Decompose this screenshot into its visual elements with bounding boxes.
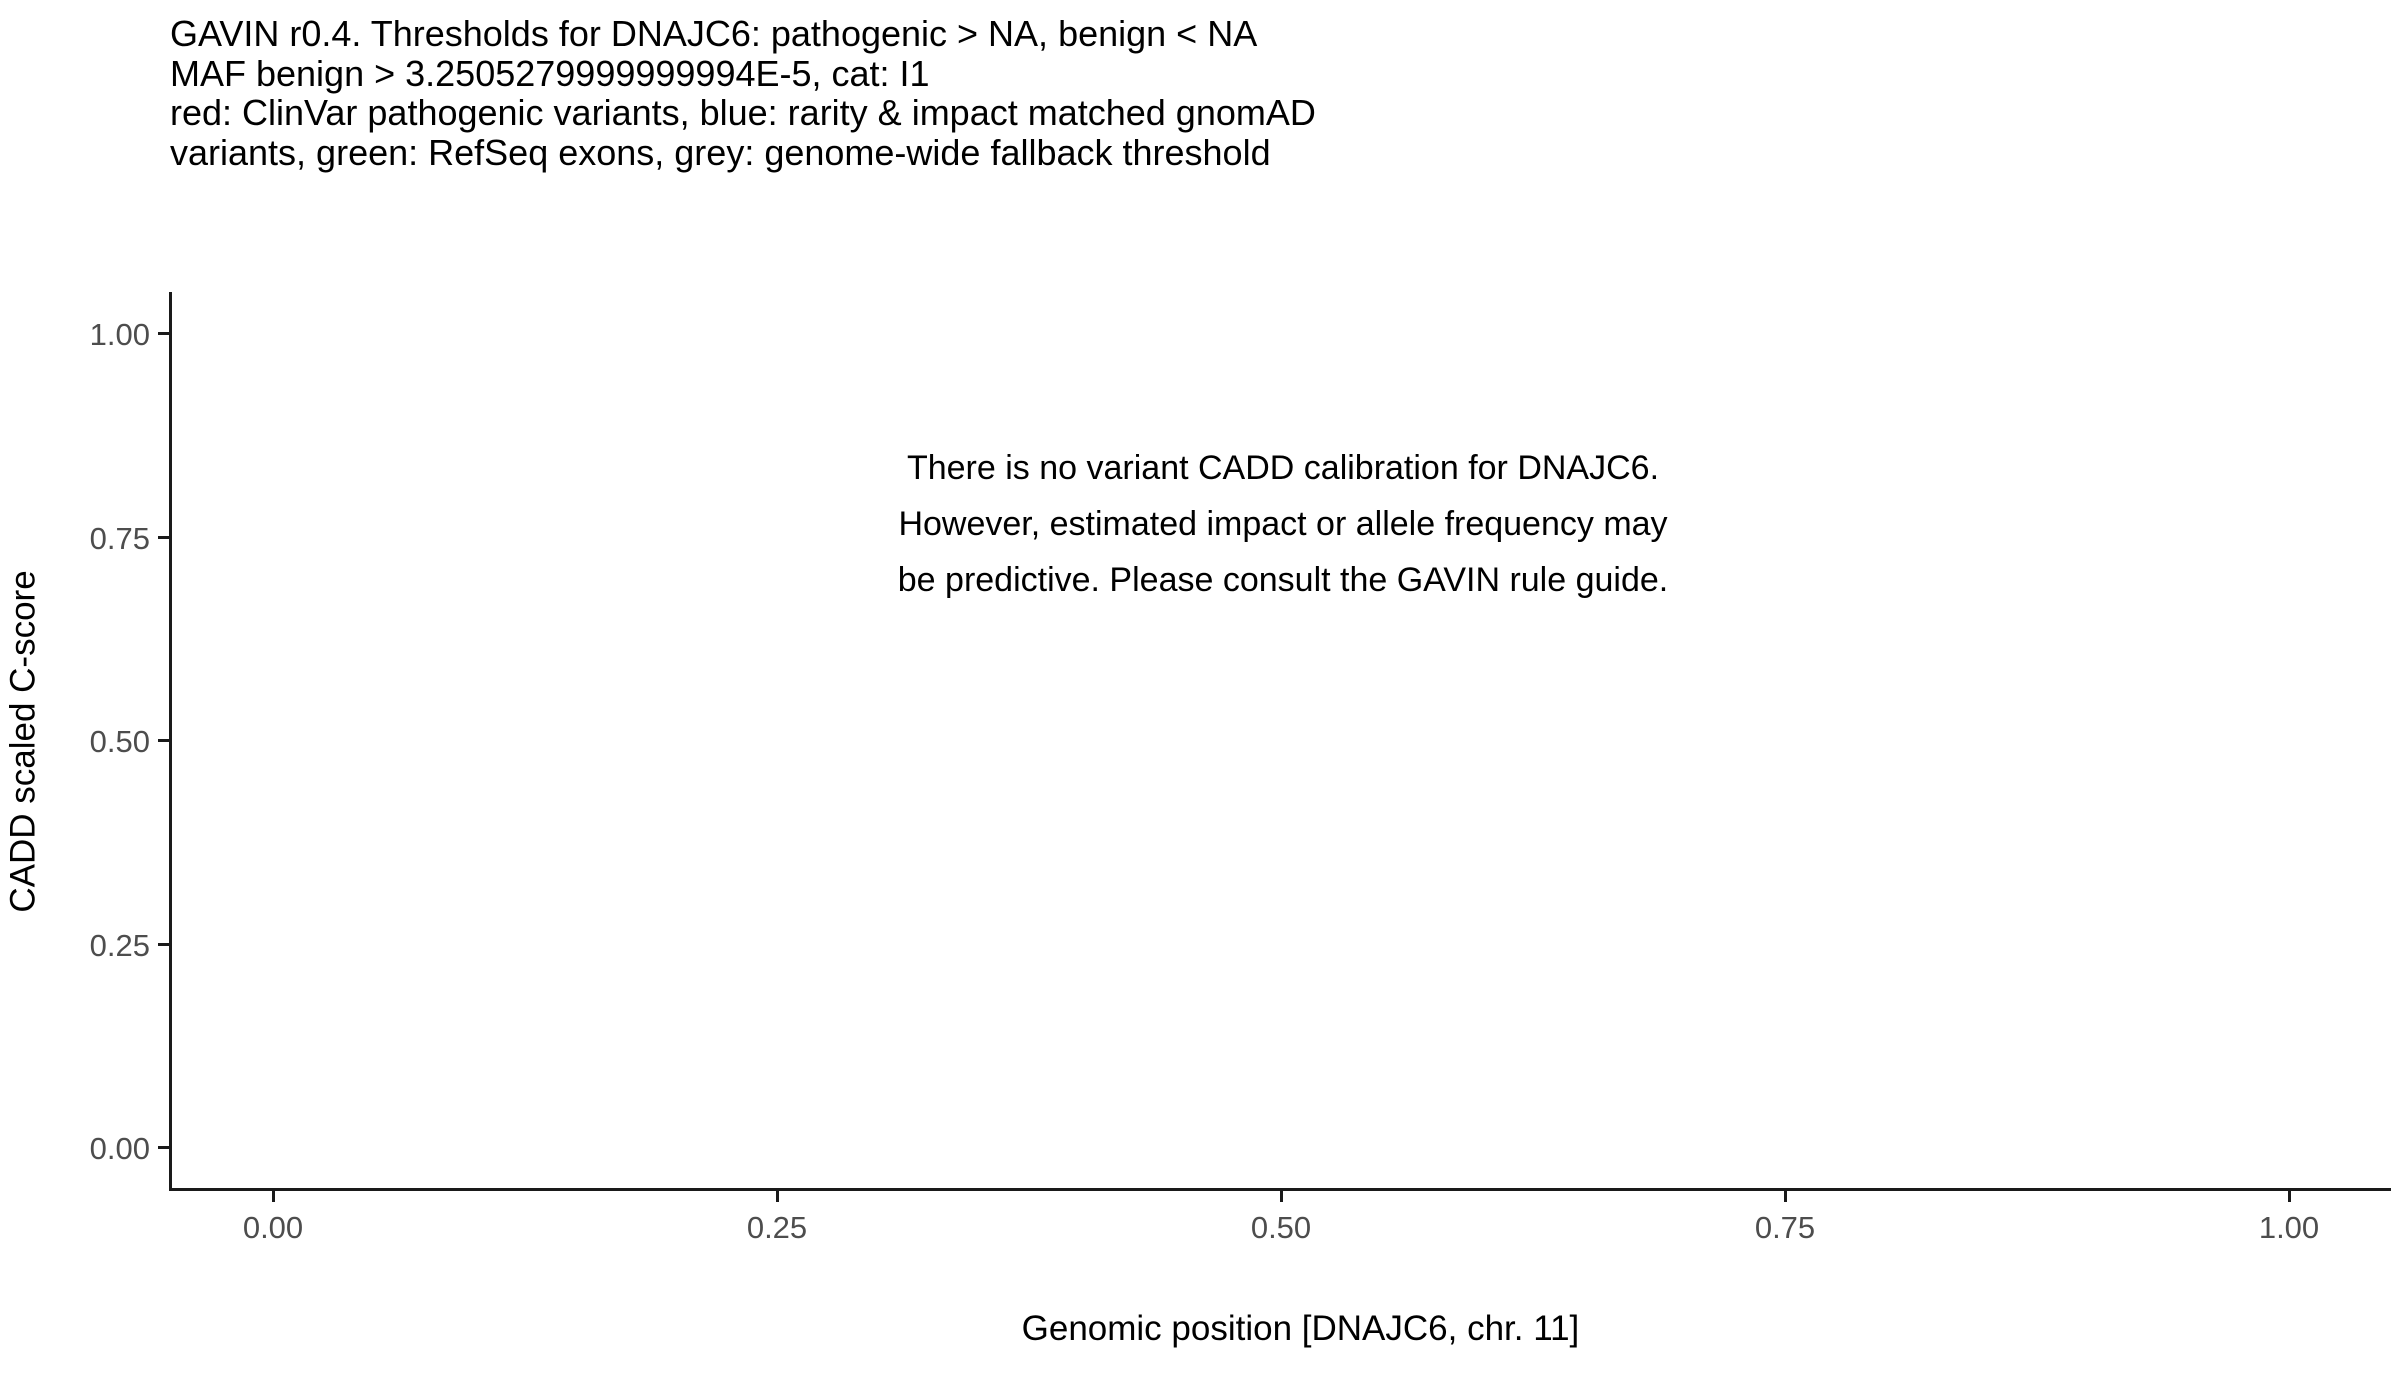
y-axis-line	[169, 292, 172, 1190]
y-tick-label: 1.00	[90, 319, 150, 350]
x-axis-title-text: Genomic position [DNAJC6, chr. 11]	[1022, 1309, 1580, 1348]
x-tick-label: 0.00	[243, 1212, 303, 1243]
y-tick-mark-icon	[158, 943, 169, 946]
y-tick-label: 0.25	[90, 930, 150, 961]
x-tick-mark-icon	[776, 1191, 779, 1202]
y-axis-title-text: CADD scaled C-score	[6, 570, 41, 912]
x-tick-mark-icon	[1280, 1191, 1283, 1202]
x-tick-mark-icon	[272, 1191, 275, 1202]
y-tick-mark-icon	[158, 332, 169, 335]
y-axis-title: CADD scaled C-score	[0, 292, 46, 1190]
y-tick-label: 0.00	[90, 1133, 150, 1164]
x-tick-mark-icon	[2288, 1191, 2291, 1202]
chart-plot-region: 1.00 0.75 0.50 0.25 0.00 0.00 0.25 0.50 …	[0, 0, 2400, 1350]
x-tick-label: 0.25	[747, 1212, 807, 1243]
x-axis-title: Genomic position [DNAJC6, chr. 11]	[172, 1276, 2390, 1381]
y-tick-mark-icon	[158, 536, 169, 539]
y-tick-label: 0.50	[90, 726, 150, 757]
x-tick-label: 0.75	[1755, 1212, 1815, 1243]
x-tick-label: 0.50	[1251, 1212, 1311, 1243]
annotation-line-1: There is no variant CADD calibration for…	[753, 440, 1813, 496]
annotation-line-2: However, estimated impact or allele freq…	[753, 496, 1813, 552]
y-tick-mark-icon	[158, 1146, 169, 1149]
x-tick-label: 1.00	[2259, 1212, 2319, 1243]
x-tick-mark-icon	[1784, 1191, 1787, 1202]
plot-panel	[172, 292, 2390, 1188]
annotation-line-3: be predictive. Please consult the GAVIN …	[753, 552, 1813, 608]
y-tick-label: 0.75	[90, 523, 150, 554]
y-tick-mark-icon	[158, 739, 169, 742]
no-calibration-annotation: There is no variant CADD calibration for…	[753, 440, 1813, 608]
